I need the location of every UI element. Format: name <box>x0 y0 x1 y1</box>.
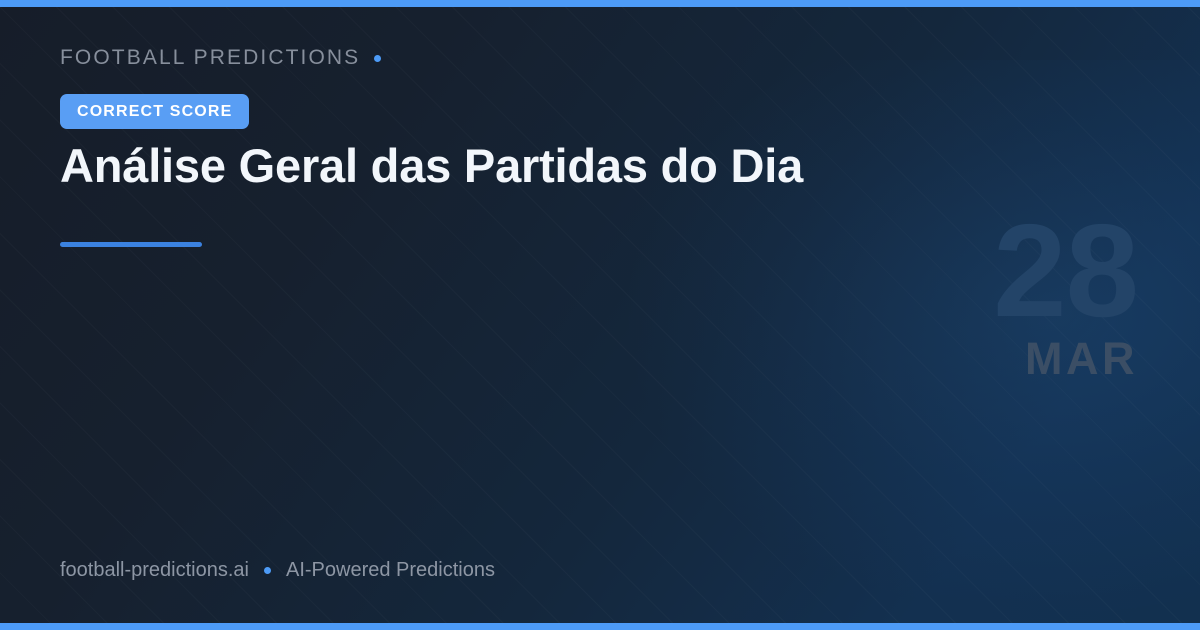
blue-dot-icon <box>264 567 271 574</box>
site-domain[interactable]: football-predictions.ai <box>60 559 249 582</box>
footer-tagline: AI-Powered Predictions <box>286 559 495 582</box>
date-display: 28 MAR <box>993 214 1138 381</box>
blue-dot-icon <box>374 55 381 62</box>
top-accent-bar <box>0 0 1200 7</box>
footer: football-predictions.ai AI-Powered Predi… <box>60 559 495 582</box>
category-badge[interactable]: CORRECT SCORE <box>60 94 249 129</box>
bottom-accent-bar <box>0 623 1200 630</box>
share-card: FOOTBALL PREDICTIONS CORRECT SCORE Análi… <box>0 0 1200 630</box>
eyebrow-label: FOOTBALL PREDICTIONS <box>60 46 360 70</box>
page-title: Análise Geral das Partidas do Dia <box>60 137 1020 194</box>
eyebrow: FOOTBALL PREDICTIONS <box>60 46 381 70</box>
date-day: 28 <box>993 214 1138 328</box>
title-accent-rule <box>60 242 202 247</box>
